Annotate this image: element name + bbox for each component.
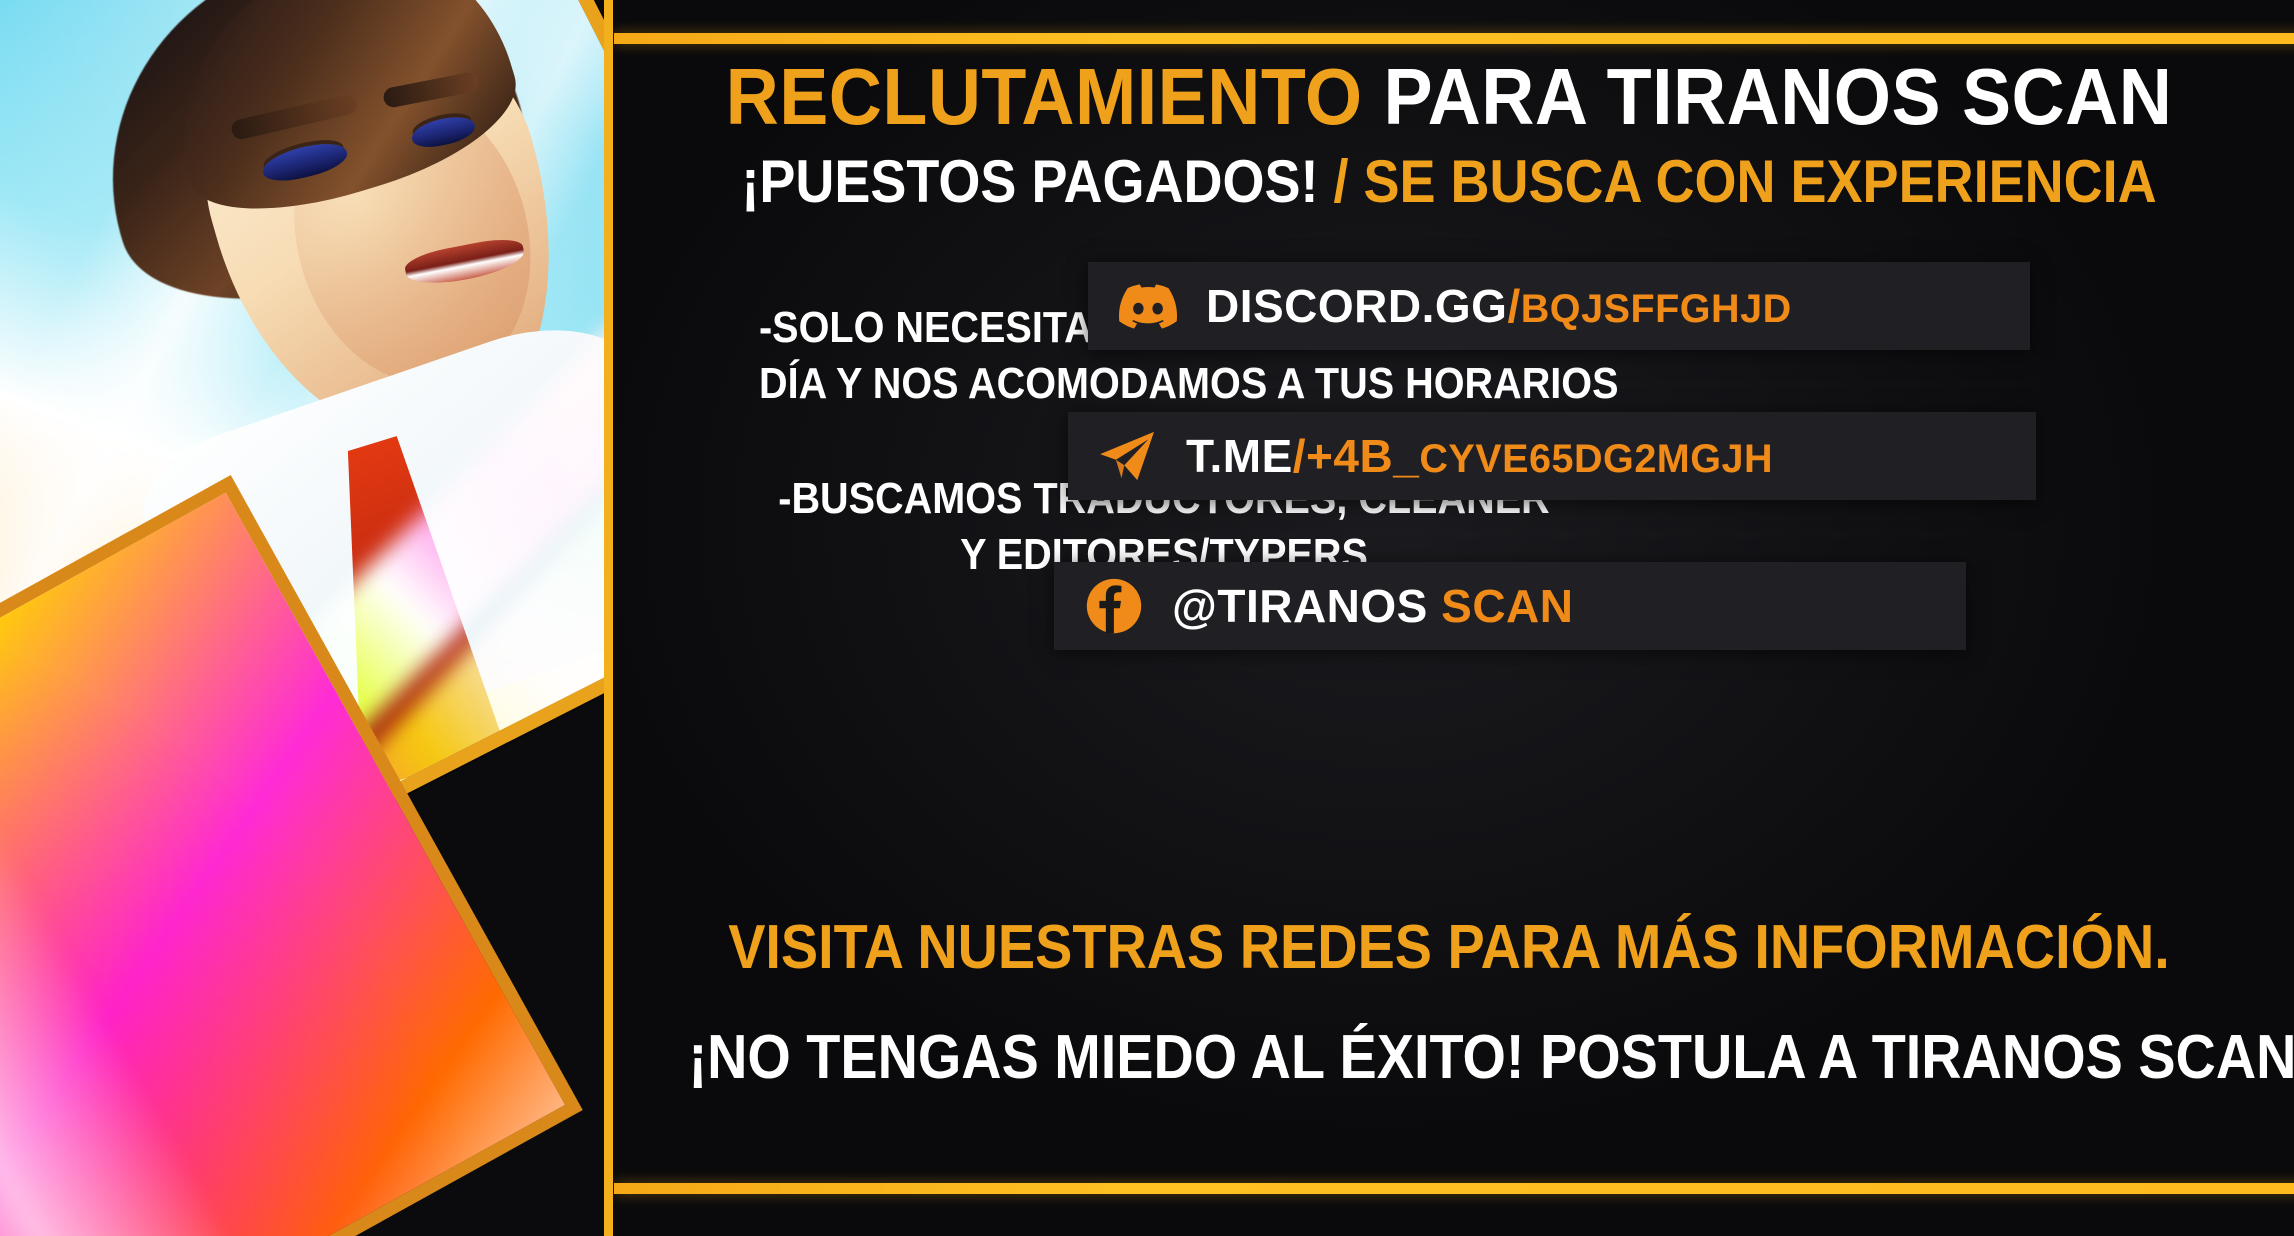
contact-facebook[interactable]: @TIRANOS SCAN (1054, 562, 1966, 650)
contact-discord[interactable]: DISCORD.GG/bQJsFFgHJd (1088, 262, 2030, 350)
footer-call-to-action: VISITA NUESTRAS REDES PARA MÁS INFORMACI… (689, 912, 2210, 983)
left-gold-edge (604, 0, 613, 1236)
discord-icon (1118, 276, 1178, 336)
page-subtitle-paid: ¡PUESTOS PAGADOS! (741, 148, 1318, 215)
page-title: RECLUTAMIENTO PARA TIRANOS SCAN (672, 57, 2227, 137)
contact-discord-slash: / (1507, 280, 1520, 332)
page-subtitle-experience: / SE BUSCA CON EXPERIENCIA (1333, 148, 2156, 215)
footer-closing-line: ¡NO TENGAS MIEDO AL ÉXITO! POSTULA A TIR… (689, 1022, 2210, 1093)
facebook-icon (1084, 576, 1144, 636)
recruitment-poster: RECLUTAMIENTO PARA TIRANOS SCAN ¡PUESTOS… (0, 0, 2294, 1236)
telegram-icon (1098, 426, 1158, 486)
page-title-accent: RECLUTAMIENTO (726, 52, 1363, 141)
contact-facebook-label: @TIRANOS SCAN (1172, 579, 1573, 633)
contact-discord-code: bQJsFFgHJd (1521, 287, 1792, 331)
contact-discord-label: DISCORD.GG/bQJsFFgHJd (1206, 279, 1792, 333)
content-panel: RECLUTAMIENTO PARA TIRANOS SCAN ¡PUESTOS… (604, 0, 2294, 1236)
bottom-divider (614, 1183, 2294, 1194)
top-divider (614, 33, 2294, 44)
contact-telegram-domain: T.ME (1186, 430, 1293, 482)
page-subtitle: ¡PUESTOS PAGADOS! / SE BUSCA CON EXPERIE… (689, 152, 2210, 212)
contact-telegram-code: CyVe65DG2MGJH (1419, 437, 1773, 481)
contact-telegram[interactable]: T.ME/+4B_CyVe65DG2MGJH (1068, 412, 2036, 500)
contact-facebook-suffix: SCAN (1428, 580, 1574, 632)
page-title-main: PARA TIRANOS SCAN (1384, 52, 2173, 141)
contact-discord-domain: DISCORD.GG (1206, 280, 1507, 332)
contact-telegram-slash: /+4B_ (1293, 430, 1420, 482)
artwork-column (0, 0, 660, 1236)
contact-telegram-label: T.ME/+4B_CyVe65DG2MGJH (1186, 429, 1773, 483)
contact-facebook-handle: @TIRANOS (1172, 580, 1428, 632)
contact-list: DISCORD.GG/bQJsFFgHJd T.ME/+4B_CyVe65DG2… (1054, 262, 2064, 650)
